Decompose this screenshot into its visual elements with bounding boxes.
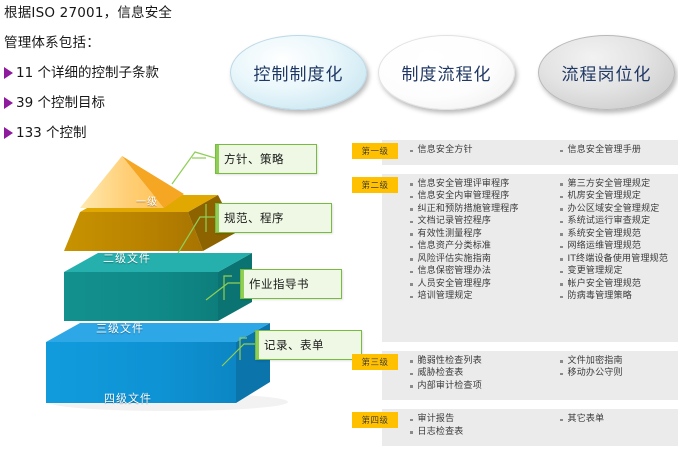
list-item: 机房安全管理规定 <box>560 191 678 203</box>
list-item-label: 信息安全管理评审程序 <box>418 179 510 191</box>
tier-row-columns: 脆弱性检查列表 威胁检查表 内部审计检查项 文件加密指南 移动办公守则 <box>352 351 678 401</box>
square-bullet-icon <box>410 246 413 249</box>
tier-badge-level-1: 第一级 <box>352 143 398 159</box>
square-bullet-icon <box>560 183 563 186</box>
square-bullet-icon <box>410 196 413 199</box>
callout-accent-bar <box>256 331 259 359</box>
list-item: 防病毒管理策略 <box>560 291 678 303</box>
square-bullet-icon <box>560 283 563 286</box>
tier-column-right: 第三方安全管理规定 机房安全管理规定 办公区域安全管理规定 系统试运行审查规定 … <box>560 179 678 304</box>
tier-row-level-2: 第二级 信息安全管理评审程序 信息安全内审管理程序 纠正和预防措施管理程序 文档… <box>352 174 678 342</box>
list-item-label: 信息安全方针 <box>418 145 473 157</box>
list-item-label: 人员安全管理程序 <box>418 279 492 291</box>
square-bullet-icon <box>410 271 413 274</box>
list-item-label: 移动办公守则 <box>568 368 623 380</box>
callout-standard-procedure: 规范、程序 <box>215 203 332 233</box>
list-item: 其它表单 <box>560 414 678 426</box>
list-item-label: IT终端设备使用管理规范 <box>568 254 669 266</box>
list-item-label: 脆弱性检查列表 <box>418 356 482 368</box>
list-item-label: 防病毒管理策略 <box>568 291 632 303</box>
square-bullet-icon <box>560 271 563 274</box>
square-bullet-icon <box>410 419 413 422</box>
list-item-label: 日志检查表 <box>418 427 464 439</box>
list-item: 信息安全方针 <box>410 145 560 157</box>
callout-4-label: 记录、表单 <box>264 337 324 353</box>
callout-1-label: 方针、策略 <box>224 151 284 167</box>
list-item: 纠正和预防措施管理程序 <box>410 204 560 216</box>
tier-column-left: 审计报告 日志检查表 <box>410 414 560 439</box>
list-item: 人员安全管理程序 <box>410 279 560 291</box>
callout-3-label: 作业指导书 <box>249 276 309 292</box>
list-item: 网络运维管理规范 <box>560 241 678 253</box>
tier-column-right: 文件加密指南 移动办公守则 <box>560 356 678 394</box>
square-bullet-icon <box>410 373 413 376</box>
tier-badge-level-3: 第三级 <box>352 354 398 370</box>
list-item-label: 培训管理规定 <box>418 291 473 303</box>
list-item: 威胁检查表 <box>410 368 560 380</box>
list-item: 审计报告 <box>410 414 560 426</box>
square-bullet-icon <box>410 258 413 261</box>
list-item: 信息安全管理评审程序 <box>410 179 560 191</box>
square-bullet-icon <box>560 296 563 299</box>
callout-work-instruction: 作业指导书 <box>240 269 342 299</box>
callout-accent-bar <box>216 145 219 173</box>
list-item: 信息资产分类标准 <box>410 241 560 253</box>
list-item: 日志检查表 <box>410 427 560 439</box>
square-bullet-icon <box>410 283 413 286</box>
list-item-label: 系统试运行审查规定 <box>568 216 651 228</box>
tier-column-right: 其它表单 <box>560 414 678 439</box>
callout-accent-bar <box>241 270 244 298</box>
list-item-label: 变更管理规定 <box>568 266 623 278</box>
callout-2-label: 规范、程序 <box>224 210 284 226</box>
list-item: 信息保密管理办法 <box>410 266 560 278</box>
list-item-label: 信息保密管理办法 <box>418 266 492 278</box>
list-item-label: 信息安全管理手册 <box>568 145 642 157</box>
callout-policy-strategy: 方针、策略 <box>215 144 317 174</box>
list-item-label: 有效性测量程序 <box>418 229 482 241</box>
list-item: IT终端设备使用管理规范 <box>560 254 678 266</box>
list-item-label: 文档记录管控程序 <box>418 216 492 228</box>
square-bullet-icon <box>410 150 413 153</box>
list-item-label: 信息安全内审管理程序 <box>418 191 510 203</box>
list-item-label: 办公区域安全管理规定 <box>568 204 660 216</box>
list-item: 文档记录管控程序 <box>410 216 560 228</box>
list-item-label: 网络运维管理规范 <box>568 241 642 253</box>
square-bullet-icon <box>560 221 563 224</box>
list-item-label: 信息资产分类标准 <box>418 241 492 253</box>
list-item-label: 系统安全管理规范 <box>568 229 642 241</box>
tier-column-left: 信息安全管理评审程序 信息安全内审管理程序 纠正和预防措施管理程序 文档记录管控… <box>410 179 560 304</box>
list-item-label: 帐户安全管理规范 <box>568 279 642 291</box>
list-item-label: 内部审计检查项 <box>418 381 482 393</box>
list-item-label: 第三方安全管理规定 <box>568 179 651 191</box>
square-bullet-icon <box>410 233 413 236</box>
slide-canvas: 根据ISO 27001，信息安全 管理体系包括： 11 个详细的控制子条款 39… <box>0 0 678 414</box>
square-bullet-icon <box>410 208 413 211</box>
square-bullet-icon <box>560 208 563 211</box>
tier-badge-level-4: 第四级 <box>352 412 398 428</box>
callout-record-form: 记录、表单 <box>255 330 362 360</box>
list-item: 文件加密指南 <box>560 356 678 368</box>
square-bullet-icon <box>410 360 413 363</box>
square-bullet-icon <box>560 258 563 261</box>
list-item: 信息安全管理手册 <box>560 145 678 157</box>
list-item-label: 威胁检查表 <box>418 368 464 380</box>
square-bullet-icon <box>560 419 563 422</box>
tier-row-columns: 审计报告 日志检查表 其它表单 <box>352 409 678 446</box>
square-bullet-icon <box>560 246 563 249</box>
square-bullet-icon <box>410 183 413 186</box>
square-bullet-icon <box>560 233 563 236</box>
list-item: 风险评估实施指南 <box>410 254 560 266</box>
tier-row-columns: 信息安全方针 信息安全管理手册 <box>352 140 678 165</box>
list-item: 第三方安全管理规定 <box>560 179 678 191</box>
list-item: 内部审计检查项 <box>410 381 560 393</box>
tier-row-columns: 信息安全管理评审程序 信息安全内审管理程序 纠正和预防措施管理程序 文档记录管控… <box>352 174 678 342</box>
list-item-label: 风险评估实施指南 <box>418 254 492 266</box>
square-bullet-icon <box>410 431 413 434</box>
list-item-label: 文件加密指南 <box>568 356 623 368</box>
tier-row-level-4: 第四级 审计报告 日志检查表 其它表单 <box>352 409 678 446</box>
list-item: 系统试运行审查规定 <box>560 216 678 228</box>
list-item: 帐户安全管理规范 <box>560 279 678 291</box>
square-bullet-icon <box>410 221 413 224</box>
tier-column-right: 信息安全管理手册 <box>560 145 678 158</box>
square-bullet-icon <box>560 150 563 153</box>
list-item: 变更管理规定 <box>560 266 678 278</box>
callout-accent-bar <box>216 204 219 232</box>
list-item-label: 纠正和预防措施管理程序 <box>418 204 519 216</box>
list-item-label: 审计报告 <box>418 414 455 426</box>
list-item: 有效性测量程序 <box>410 229 560 241</box>
list-item: 办公区域安全管理规定 <box>560 204 678 216</box>
document-tier-panel: 第一级 信息安全方针 信息安全管理手册 第二级 信息安全管理评审程序 信息安全内… <box>352 140 678 455</box>
tier-column-left: 信息安全方针 <box>410 145 560 158</box>
tier-row-level-1: 第一级 信息安全方针 信息安全管理手册 <box>352 140 678 165</box>
tier-column-left: 脆弱性检查列表 威胁检查表 内部审计检查项 <box>410 356 560 394</box>
list-item: 移动办公守则 <box>560 368 678 380</box>
tier-badge-level-2: 第二级 <box>352 177 398 193</box>
square-bullet-icon <box>560 196 563 199</box>
square-bullet-icon <box>410 296 413 299</box>
list-item: 脆弱性检查列表 <box>410 356 560 368</box>
list-item: 系统安全管理规范 <box>560 229 678 241</box>
square-bullet-icon <box>560 373 563 376</box>
list-item: 培训管理规定 <box>410 291 560 303</box>
square-bullet-icon <box>560 360 563 363</box>
list-item-label: 其它表单 <box>568 414 605 426</box>
square-bullet-icon <box>410 385 413 388</box>
list-item-label: 机房安全管理规定 <box>568 191 642 203</box>
tier-row-level-3: 第三级 脆弱性检查列表 威胁检查表 内部审计检查项 文件加密指南 移动办公守则 <box>352 351 678 401</box>
list-item: 信息安全内审管理程序 <box>410 191 560 203</box>
